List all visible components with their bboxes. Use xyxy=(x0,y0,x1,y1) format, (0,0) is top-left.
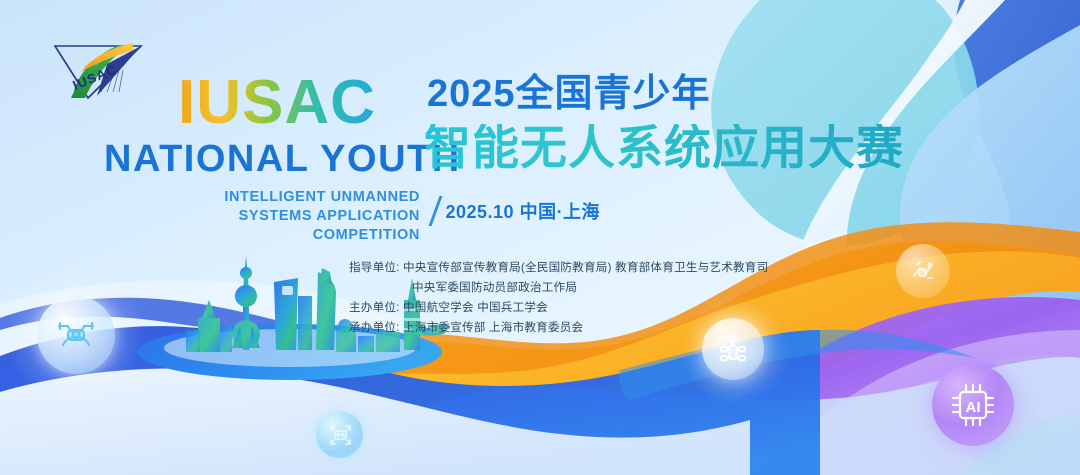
ai-chip-icon-bubble: AI xyxy=(932,364,1014,446)
rover-icon xyxy=(714,330,752,368)
english-main-title: NATIONAL YOUTH xyxy=(104,140,461,178)
host-unit-line: 主办单位: 中国航空学会 中国兵工学会 xyxy=(349,298,768,318)
ai-chip-icon: AI xyxy=(946,378,1000,432)
english-subtitle: INTELLIGENT UNMANNED SYSTEMS APPLICATION… xyxy=(130,188,420,245)
guiding-unit-line1: 指导单位: 中央宣传部宣传教育局(全民国防教育局) 教育部体育卫生与艺术教育司 xyxy=(349,258,768,278)
robot-icon-bubble xyxy=(316,411,363,458)
ai-chip-label: AI xyxy=(966,399,981,416)
robot-icon xyxy=(326,421,354,449)
event-date-location: 2025.10 中国·上海 xyxy=(446,198,601,224)
acronym-title: IUSAC xyxy=(178,72,376,134)
mech-icon xyxy=(908,256,938,286)
drone-icon-bubble xyxy=(37,296,115,374)
mech-icon-bubble xyxy=(896,244,950,298)
guiding-unit-line2: 中央军委国防动员部政治工作局 xyxy=(349,278,768,298)
chinese-title-line1: 2025全国青少年 xyxy=(427,75,711,113)
organizers-block: 指导单位: 中央宣传部宣传教育局(全民国防教育局) 教育部体育卫生与艺术教育司 … xyxy=(349,258,768,338)
chinese-title-line2: 智能无人系统应用大赛 xyxy=(424,124,904,171)
english-subtitle-line2: SYSTEMS APPLICATION COMPETITION xyxy=(130,207,420,245)
event-meta: 2025.10 中国·上海 xyxy=(434,196,600,226)
rover-icon-bubble xyxy=(702,318,764,380)
iusac-logo: IUSAC xyxy=(45,24,150,104)
drone-icon xyxy=(53,315,99,355)
english-subtitle-line1: INTELLIGENT UNMANNED xyxy=(130,188,420,207)
event-banner: IUSAC IUSAC NATIONAL YOUTH INTELLIGENT U… xyxy=(0,0,1080,475)
